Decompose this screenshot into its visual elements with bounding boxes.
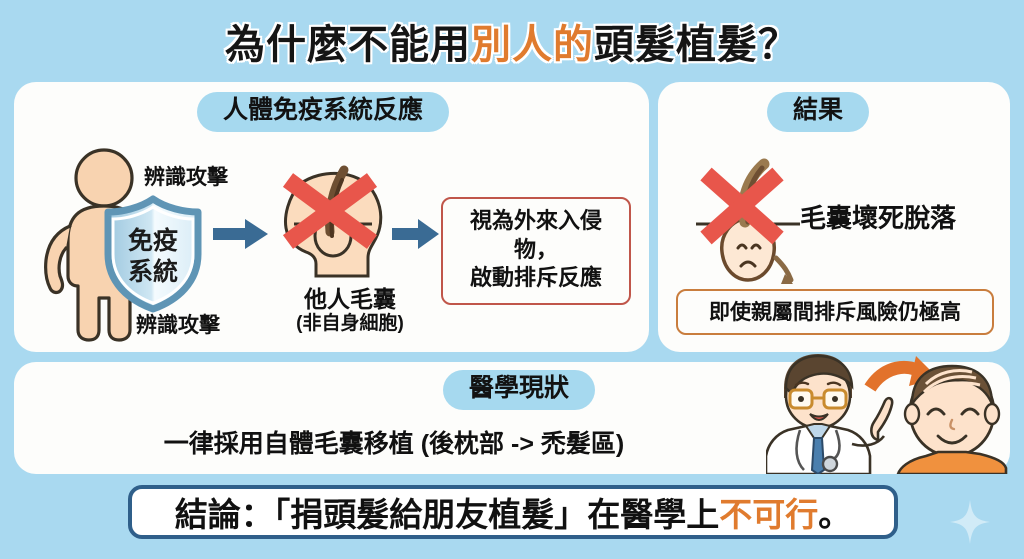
necrosis-label: 毛囊壞死脫落	[800, 198, 956, 235]
rejection-callout: 視為外來入侵物， 啟動排斥反應	[441, 197, 631, 305]
attack-label-bottom: 辨識攻擊	[136, 313, 220, 338]
result-panel-badge: 結果	[767, 92, 869, 132]
title-part2: 頭髮植髮？	[594, 23, 799, 67]
relative-rejection-warning: 即使親屬間排斥風險仍極高	[676, 289, 994, 335]
conclusion-part1: 結論：「捐頭髮給朋友植髮」在醫學上	[175, 496, 720, 533]
head-profile-icon	[272, 168, 400, 286]
attack-label-top: 辨識攻擊	[144, 165, 228, 190]
infographic-root: 為什麼不能用別人的頭髮植髮？ 人體免疫系統反應	[0, 0, 1024, 559]
conclusion-text: 結論：「捐頭髮給朋友植髮」在醫學上不可行。	[175, 488, 852, 536]
page-title: 為什麼不能用別人的頭髮植髮？	[0, 12, 1024, 70]
doctor-icon	[766, 354, 892, 474]
immune-panel-badge: 人體免疫系統反應	[197, 92, 449, 132]
shield-label-line2: 系統	[128, 257, 178, 286]
conclusion-accent: 不可行	[719, 496, 818, 533]
falling-arrow-icon	[776, 258, 793, 284]
dead-follicle-icon	[690, 162, 806, 288]
title-part1: 為什麼不能用	[225, 23, 471, 67]
shield-label-line1: 免疫	[128, 226, 178, 255]
title-accent: 別人的	[471, 23, 594, 67]
donor-follicle-main: 他人毛囊	[304, 286, 396, 312]
conclusion-box: 結論：「捐頭髮給朋友植髮」在醫學上不可行。	[128, 485, 898, 539]
donor-follicle-sub: (非自身細胞)	[270, 313, 430, 335]
medical-statement: 一律採用自體毛囊移植 (後枕部 -> 禿髮區)	[14, 424, 774, 460]
right-arrow-icon-2	[392, 218, 440, 250]
doctor-patient-illustration	[766, 352, 1010, 474]
donor-follicle-label: 他人毛囊 (非自身細胞)	[270, 286, 430, 336]
sparkle-icon	[950, 500, 990, 544]
rejection-callout-line1: 視為外來入侵物，	[449, 207, 623, 264]
rejection-callout-line2: 啟動排斥反應	[449, 264, 623, 293]
shield-icon: 免疫 系統	[100, 196, 206, 312]
right-arrow-icon-1	[213, 218, 269, 250]
conclusion-part2: 。	[818, 496, 851, 533]
medical-panel-badge: 醫學現狀	[443, 370, 595, 410]
